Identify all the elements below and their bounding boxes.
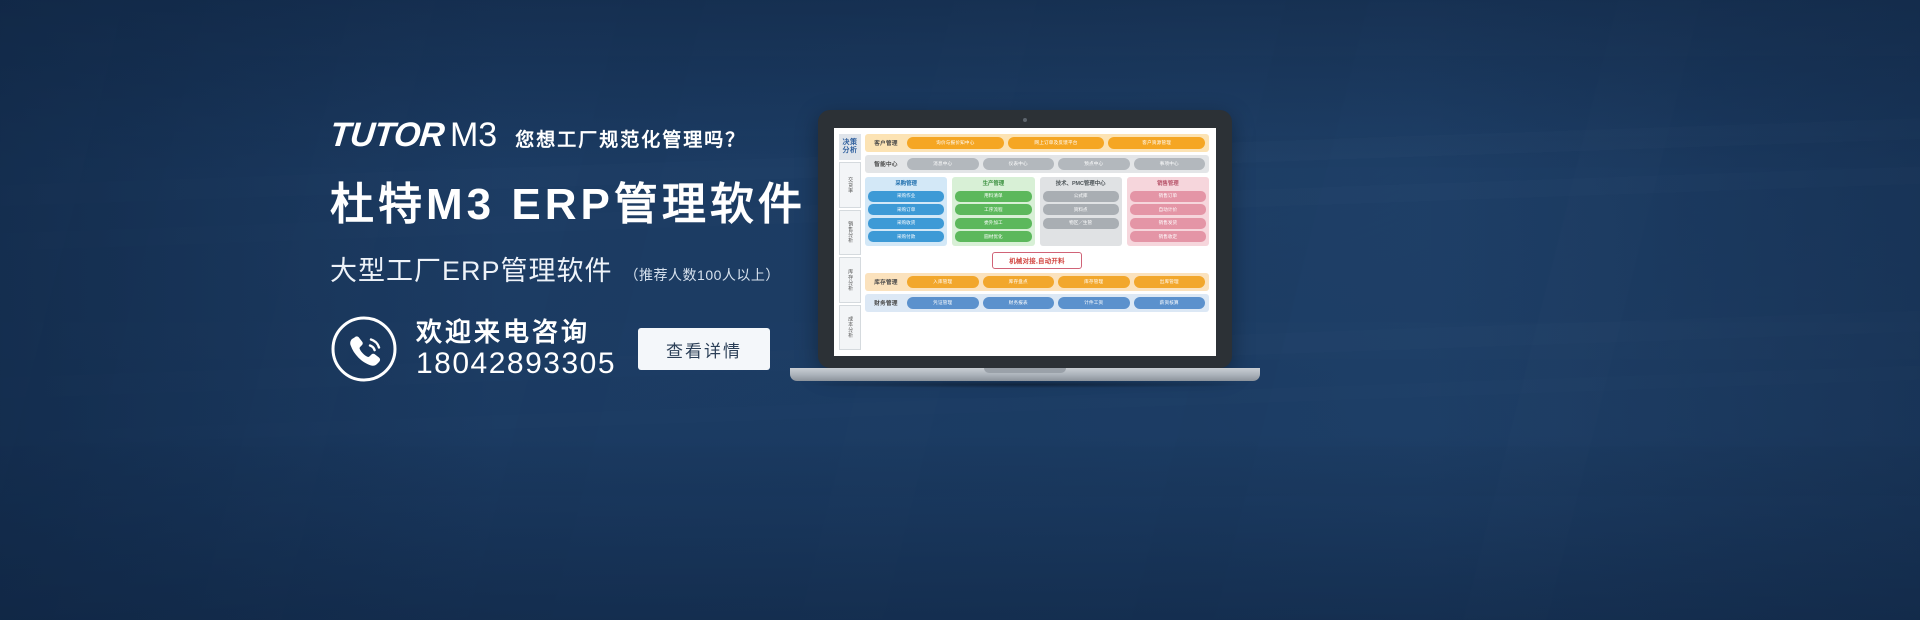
erp-band-label: 库存管理 bbox=[869, 278, 903, 286]
erp-band-label: 财务管理 bbox=[869, 299, 903, 307]
contact-phone-number[interactable]: 18042893305 bbox=[416, 348, 616, 380]
erp-chip: 计件工资 bbox=[1058, 297, 1130, 309]
erp-column-title: 采购管理 bbox=[868, 180, 944, 188]
erp-sidebar-item: 交货率 bbox=[839, 162, 861, 207]
erp-item: 采购作业 bbox=[868, 191, 944, 202]
erp-chip: 出库管理 bbox=[1134, 276, 1206, 288]
erp-column-sales: 销售管理 销售订单 自动计价 销售发货 销售收定 bbox=[1127, 177, 1209, 246]
contact-block: 欢迎来电咨询 18042893305 查看详情 bbox=[330, 315, 770, 383]
erp-sidebar: 决策分析 交货率 销售分析 库存分析 成本分析 bbox=[839, 134, 861, 350]
erp-item: 销售发货 bbox=[1130, 218, 1206, 229]
erp-sidebar-item: 库存分析 bbox=[839, 257, 861, 302]
erp-chip: 询价与报价知中心 bbox=[907, 137, 1004, 149]
erp-callout: 机械对接,自动开料 bbox=[992, 252, 1082, 269]
laptop-screen: 决策分析 交货率 销售分析 库存分析 成本分析 客户管理 询价与报价知中心 网上… bbox=[834, 128, 1216, 356]
erp-item: 物区／生管 bbox=[1043, 218, 1119, 229]
brand-name-tutor: TUTOR bbox=[328, 118, 446, 152]
erp-chip: 入库管理 bbox=[907, 276, 979, 288]
erp-column-title: 生产管理 bbox=[955, 180, 1031, 188]
erp-item: 委外加工 bbox=[955, 218, 1031, 229]
hero-subtitle-note: （推荐人数100人以上） bbox=[625, 265, 780, 285]
erp-column-title: 销售管理 bbox=[1130, 180, 1206, 188]
erp-item: 采购付款 bbox=[868, 231, 944, 242]
webcam-icon bbox=[1023, 118, 1027, 122]
erp-chip: 预点中心 bbox=[1058, 158, 1130, 170]
erp-item: 公式库 bbox=[1043, 191, 1119, 202]
erp-item: 用料清单 bbox=[955, 191, 1031, 202]
erp-band-label: 客户管理 bbox=[869, 139, 903, 147]
erp-main: 客户管理 询价与报价知中心 网上订单及反馈平台 客户资源管理 智能中心 消息中心… bbox=[865, 134, 1209, 350]
erp-column-tech-pmc: 技术、PMC管理中心 公式库 资料点 物区／生管 bbox=[1040, 177, 1122, 246]
erp-item: 采购订单 bbox=[868, 204, 944, 215]
laptop-lid: 决策分析 交货率 销售分析 库存分析 成本分析 客户管理 询价与报价知中心 网上… bbox=[818, 110, 1232, 368]
erp-chip: 客户资源管理 bbox=[1108, 137, 1205, 149]
view-details-button[interactable]: 查看详情 bbox=[638, 328, 770, 370]
phone-ring-icon bbox=[330, 315, 398, 383]
erp-chip: 事项中心 bbox=[1134, 158, 1206, 170]
erp-column-title: 技术、PMC管理中心 bbox=[1043, 180, 1119, 188]
laptop-mockup: 决策分析 交货率 销售分析 库存分析 成本分析 客户管理 询价与报价知中心 网上… bbox=[790, 110, 1260, 395]
contact-title: 欢迎来电咨询 bbox=[416, 318, 616, 346]
erp-chip: 网上订单及反馈平台 bbox=[1008, 137, 1105, 149]
erp-chip: 库存管理 bbox=[1058, 276, 1130, 288]
erp-item: 自动计价 bbox=[1130, 204, 1206, 215]
erp-sidebar-head: 决策分析 bbox=[839, 134, 861, 160]
erp-architecture-diagram: 决策分析 交货率 销售分析 库存分析 成本分析 客户管理 询价与报价知中心 网上… bbox=[834, 128, 1216, 356]
erp-chip: 消息中心 bbox=[907, 158, 979, 170]
erp-chip: 仪表中心 bbox=[983, 158, 1055, 170]
erp-chip: 财务报表 bbox=[983, 297, 1055, 309]
erp-item: 采购收货 bbox=[868, 218, 944, 229]
erp-band-inventory: 库存管理 入库管理 库存盘点 库存管理 出库管理 bbox=[865, 273, 1209, 291]
erp-column-production: 生产管理 用料清单 工序流程 委外加工 圆材优化 bbox=[952, 177, 1034, 246]
erp-sidebar-item: 成本分析 bbox=[839, 305, 861, 350]
erp-column-purchase: 采购管理 采购作业 采购订单 采购收货 采购付款 bbox=[865, 177, 947, 246]
erp-item: 销售订单 bbox=[1130, 191, 1206, 202]
erp-band-smart-center: 智能中心 消息中心 仪表中心 预点中心 事项中心 bbox=[865, 155, 1209, 173]
contact-text: 欢迎来电咨询 18042893305 bbox=[416, 318, 616, 380]
erp-chip: 库存盘点 bbox=[983, 276, 1055, 288]
erp-band-finance: 财务管理 凭证管理 财务报表 计件工资 薪资核算 bbox=[865, 294, 1209, 312]
laptop-hinge-notch bbox=[984, 368, 1066, 373]
erp-item: 销售收定 bbox=[1130, 231, 1206, 242]
erp-band-customer: 客户管理 询价与报价知中心 网上订单及反馈平台 客户资源管理 bbox=[865, 134, 1209, 152]
erp-module-columns: 采购管理 采购作业 采购订单 采购收货 采购付款 生产管理 用料清单 工序流程 … bbox=[865, 177, 1209, 246]
brand-tagline: 您想工厂规范化管理吗？ bbox=[515, 131, 746, 150]
erp-item: 资料点 bbox=[1043, 204, 1119, 215]
erp-item: 工序流程 bbox=[955, 204, 1031, 215]
laptop-shadow bbox=[800, 381, 1250, 388]
erp-band-label: 智能中心 bbox=[869, 160, 903, 168]
erp-chip: 薪资核算 bbox=[1134, 297, 1206, 309]
erp-chip: 凭证管理 bbox=[907, 297, 979, 309]
hero-banner: TUTOR M3 您想工厂规范化管理吗？ 杜特M3 ERP管理软件 大型工厂ER… bbox=[0, 0, 1920, 620]
hero-subtitle-main: 大型工厂ERP管理软件 bbox=[330, 249, 613, 288]
erp-sidebar-item: 销售分析 bbox=[839, 210, 861, 255]
brand-name-m3: M3 bbox=[450, 118, 497, 152]
erp-item: 圆材优化 bbox=[955, 231, 1031, 242]
